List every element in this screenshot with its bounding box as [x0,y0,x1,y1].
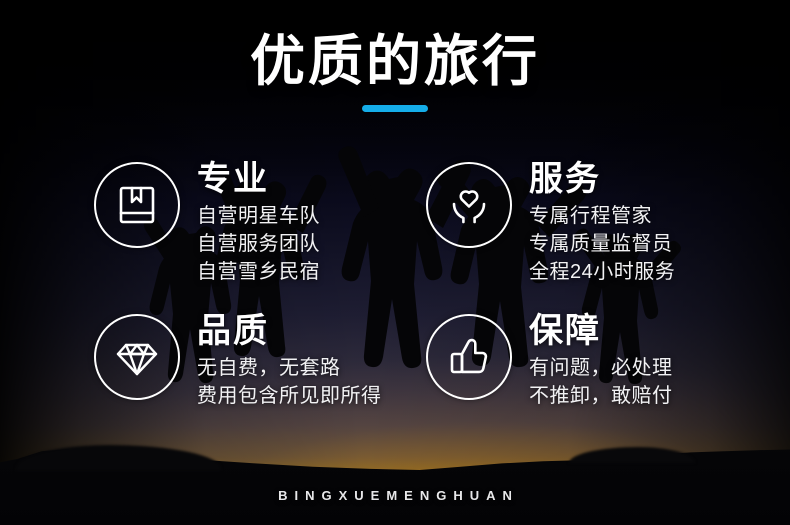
feature-item-service: 服务 专属行程管家 专属质量监督员 全程24小时服务 [426,158,714,286]
feature-heading: 品质 [197,312,382,350]
feature-line: 自营明星车队 [197,202,320,230]
diamond-icon [94,314,180,400]
title-underline-accent [362,105,428,112]
feature-line: 有问题，必处理 [529,354,673,382]
banner-title-group: 优质的旅行 [0,33,790,112]
feature-line: 费用包含所见即所得 [197,382,382,410]
feature-text-professional: 专业 自营明星车队 自营服务团队 自营雪乡民宿 [197,158,320,286]
feature-text-guarantee: 保障 有问题，必处理 不推卸，敢赔付 [529,310,673,410]
feature-line: 无自费，无套路 [197,354,382,382]
feature-item-quality: 品质 无自费，无套路 费用包含所见即所得 [94,310,382,410]
page-title: 优质的旅行 [0,33,790,91]
feature-line: 专属质量监督员 [529,230,675,258]
feature-item-professional: 专业 自营明星车队 自营服务团队 自营雪乡民宿 [94,158,382,286]
feature-text-quality: 品质 无自费，无套路 费用包含所见即所得 [197,310,382,410]
heart-in-hands-icon [426,162,512,248]
promo-banner: 优质的旅行 专业 自营明星车队 自营服务团队 自营雪乡民宿 [0,0,790,525]
feature-text-service: 服务 专属行程管家 专属质量监督员 全程24小时服务 [529,158,675,286]
book-icon [94,162,180,248]
feature-line: 自营雪乡民宿 [197,258,320,286]
feature-heading: 专业 [197,160,320,198]
feature-grid: 专业 自营明星车队 自营服务团队 自营雪乡民宿 服务 专属行程 [94,158,714,410]
brand-footer-text: BINGXUEMENGHUAN [0,488,790,503]
feature-heading: 保障 [529,312,673,350]
feature-heading: 服务 [529,160,675,198]
feature-line: 自营服务团队 [197,230,320,258]
feature-line: 不推卸，敢赔付 [529,382,673,410]
banner-content: 优质的旅行 专业 自营明星车队 自营服务团队 自营雪乡民宿 [0,0,790,525]
feature-item-guarantee: 保障 有问题，必处理 不推卸，敢赔付 [426,310,714,410]
feature-line: 专属行程管家 [529,202,675,230]
thumbs-up-icon [426,314,512,400]
feature-line: 全程24小时服务 [529,258,675,286]
